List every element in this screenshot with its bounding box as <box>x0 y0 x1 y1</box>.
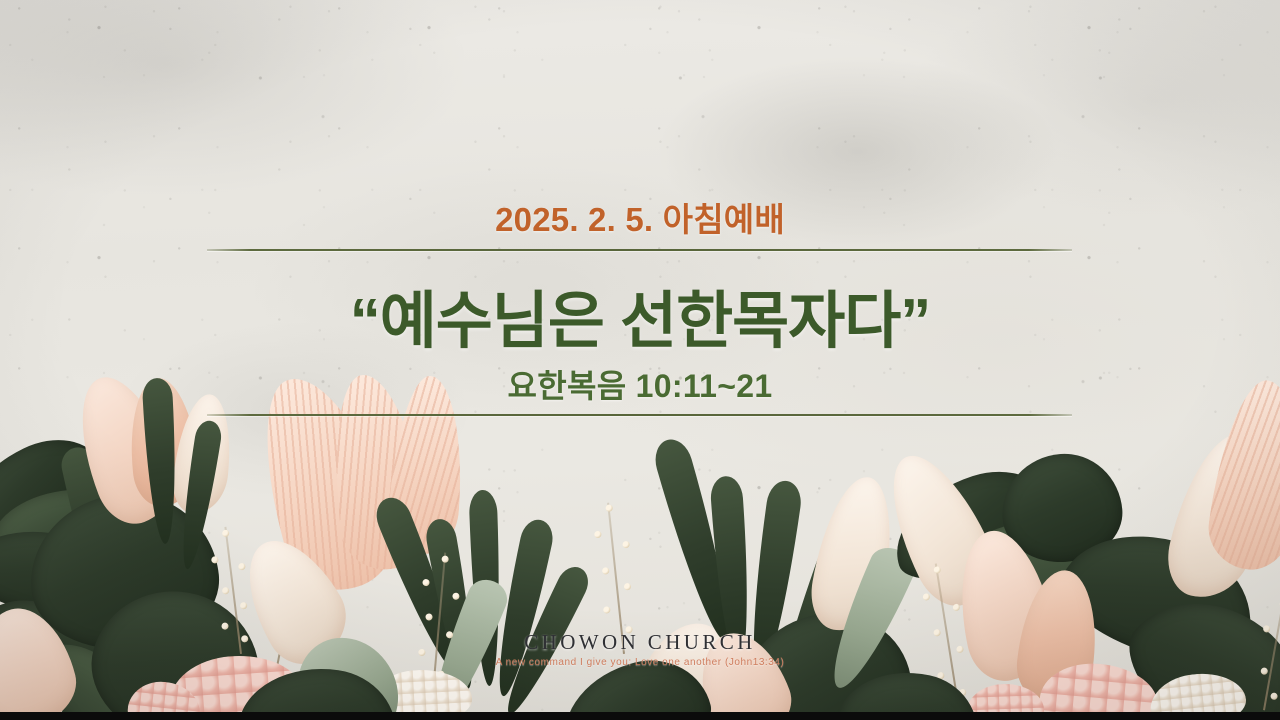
church-logo: CHOWON CHURCH A new command I give you: … <box>0 632 1280 668</box>
letterbox-bar-bottom <box>0 712 1280 720</box>
worship-title-slide: 2025. 2. 5. 아침예배 “예수님은 선한목자다” 요한복음 10:11… <box>0 0 1280 720</box>
service-date: 2025. 2. 5. 아침예배 <box>0 193 1280 241</box>
church-name: CHOWON CHURCH <box>0 632 1280 653</box>
divider-line-top <box>207 249 1072 251</box>
scripture-reference: 요한복음 10:11~21 <box>0 361 1280 407</box>
divider-line-bottom <box>207 414 1072 416</box>
church-tagline: A new command I give you: Love one anoth… <box>0 658 1280 668</box>
dried-floral-border <box>0 380 1280 720</box>
sermon-title: “예수님은 선한목자다” <box>0 270 1280 360</box>
